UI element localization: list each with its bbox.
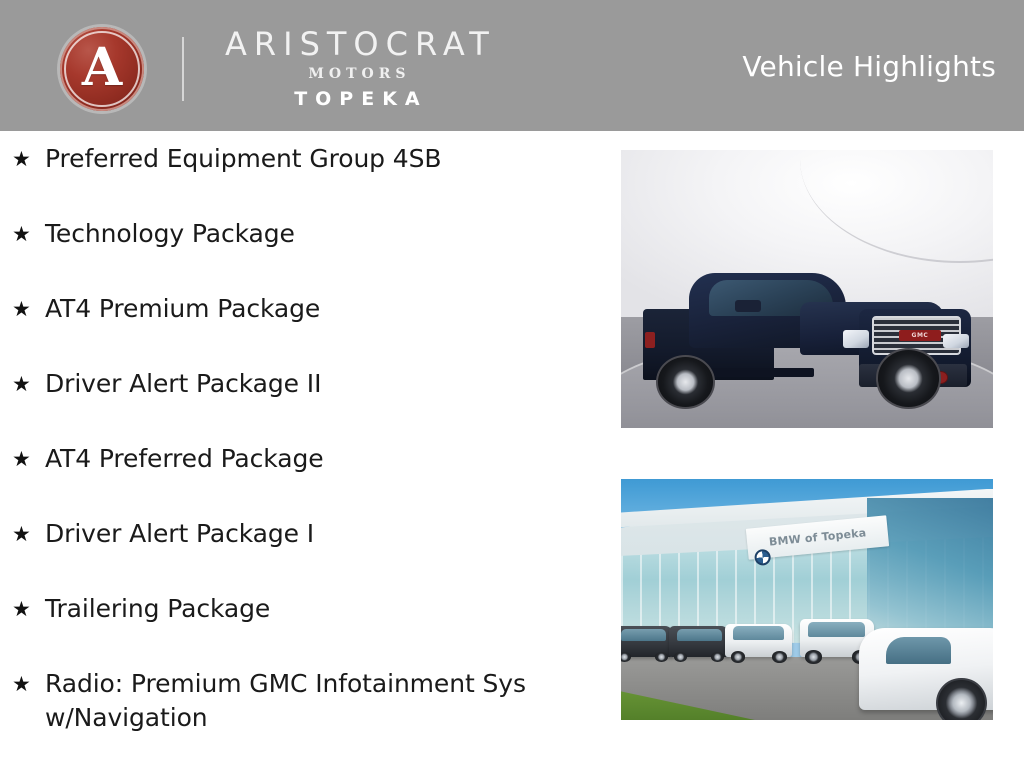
- truck-headlight-left: [843, 330, 869, 348]
- list-item: ★ Driver Alert Package II: [0, 367, 600, 442]
- list-item: ★ Trailering Package: [0, 592, 600, 667]
- parked-car: [725, 624, 792, 658]
- car-glass: [886, 637, 951, 665]
- foreground-white-bmw: [859, 628, 993, 710]
- gmc-sierra-at4-truck: GMC: [643, 231, 970, 409]
- parked-car: [621, 626, 673, 657]
- truck-side-mirror: [735, 300, 761, 312]
- star-bullet-icon: ★: [12, 517, 34, 551]
- truck-taillight: [645, 332, 655, 348]
- emblem-letter: A: [60, 27, 144, 111]
- highlight-label: Driver Alert Package I: [34, 517, 600, 551]
- truck-running-board: [709, 368, 814, 377]
- page-header: A ARISTOCRAT MOTORS TOPEKA Vehicle Highl…: [0, 0, 1024, 131]
- car-wheel: [772, 651, 787, 662]
- brand-wordmark: ARISTOCRAT MOTORS TOPEKA: [218, 26, 496, 112]
- aristocrat-emblem-icon: A: [60, 27, 144, 111]
- gmc-badge: GMC: [899, 330, 942, 341]
- star-bullet-icon: ★: [12, 217, 34, 251]
- list-item: ★ Driver Alert Package I: [0, 517, 600, 592]
- star-bullet-icon: ★: [12, 367, 34, 401]
- brand-divider: [182, 37, 184, 101]
- list-item: ★ AT4 Preferred Package: [0, 442, 600, 517]
- dealership-scene: BMW of Topeka: [621, 479, 993, 720]
- vehicle-photo: GMC: [621, 150, 993, 428]
- brand-name: ARISTOCRAT: [218, 28, 496, 62]
- list-item: ★ Radio: Premium GMC Infotainment Sys w/…: [0, 667, 600, 757]
- car-glass: [677, 629, 722, 642]
- car-glass: [808, 622, 865, 637]
- page-title: Vehicle Highlights: [742, 50, 996, 83]
- car-glass: [621, 629, 666, 642]
- truck-rear-wheel: [656, 355, 715, 408]
- brand-city: TOPEKA: [286, 87, 427, 112]
- highlight-label: Radio: Premium GMC Infotainment Sys w/Na…: [34, 667, 600, 735]
- truck-front-wheel: [876, 348, 941, 408]
- parked-car: [669, 626, 729, 657]
- highlight-label: Trailering Package: [34, 592, 600, 626]
- dealership-sign-text: BMW of Topeka: [769, 527, 868, 549]
- highlight-label: AT4 Premium Package: [34, 292, 600, 326]
- truck-headlight-right: [943, 334, 969, 348]
- highlight-label: AT4 Preferred Package: [34, 442, 600, 476]
- list-item: ★ Technology Package: [0, 217, 600, 292]
- car-wheel: [936, 678, 987, 720]
- highlight-label: Technology Package: [34, 217, 600, 251]
- car-glass: [733, 626, 784, 639]
- car-wheel: [805, 650, 821, 663]
- brand-lockup: A ARISTOCRAT MOTORS TOPEKA: [60, 24, 496, 114]
- star-bullet-icon: ★: [12, 592, 34, 626]
- brand-subtitle: MOTORS: [303, 65, 410, 85]
- star-bullet-icon: ★: [12, 292, 34, 326]
- showroom-background: GMC: [621, 150, 993, 428]
- car-wheel: [731, 651, 746, 662]
- star-bullet-icon: ★: [12, 142, 34, 176]
- star-bullet-icon: ★: [12, 442, 34, 476]
- list-item: ★ Preferred Equipment Group 4SB: [0, 142, 600, 217]
- dealership-photo: BMW of Topeka: [621, 479, 993, 720]
- highlight-label: Preferred Equipment Group 4SB: [34, 142, 600, 176]
- star-bullet-icon: ★: [12, 667, 34, 701]
- vehicle-highlights-list: ★ Preferred Equipment Group 4SB ★ Techno…: [0, 142, 600, 757]
- list-item: ★ AT4 Premium Package: [0, 292, 600, 367]
- highlight-label: Driver Alert Package II: [34, 367, 600, 401]
